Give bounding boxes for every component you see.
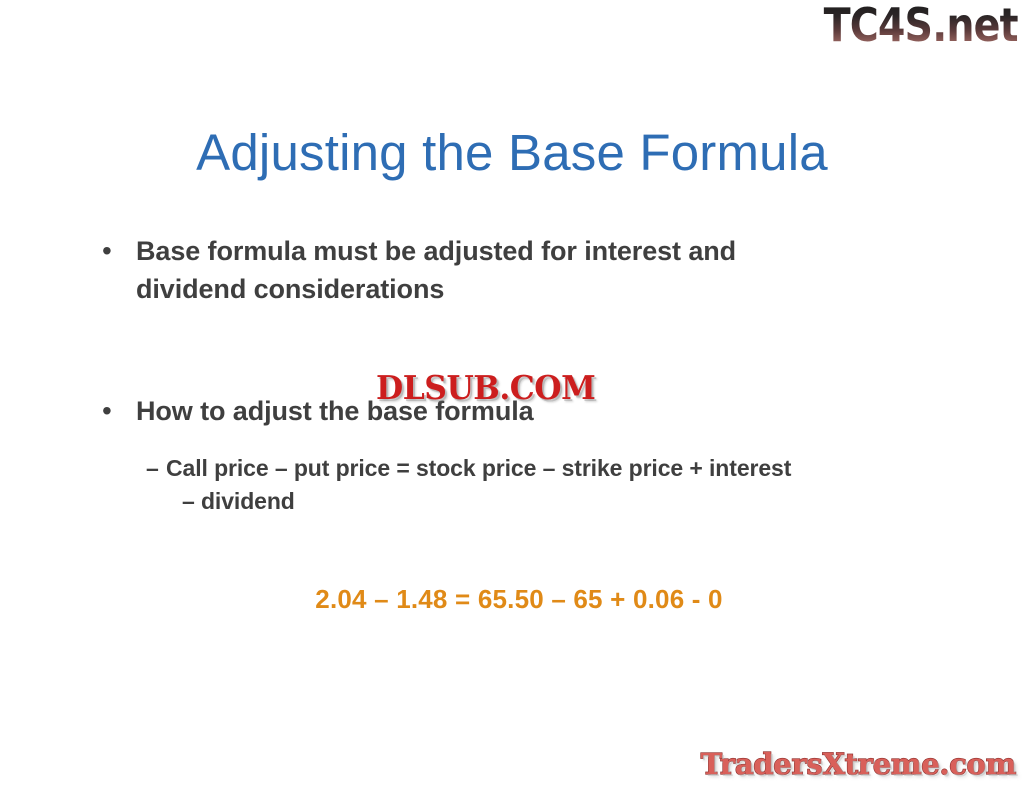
subbullet-text-line-1: Call price – put price = stock price – s… [166,455,791,481]
watermark-tc4s-net: TC4S.net [824,2,1018,48]
subbullet-text-line-2: – dividend [170,485,925,518]
slide-body: • Base formula must be adjusted for inte… [0,232,1024,615]
bullet-text-1: Base formula must be adjusted for intere… [136,232,848,308]
subbullet-item-1: – Call price – put price = stock price –… [0,452,1024,518]
subbullet-marker-icon: – [146,452,166,485]
subbullet-text-block: Call price – put price = stock price – s… [166,452,925,518]
slide-title: Adjusting the Base Formula [0,123,1024,182]
bullet-marker-icon: • [100,232,136,270]
watermark-dlsub-com-label: DLSUB.COM [376,368,595,407]
watermark-dlsub-com: DLSUB.COM [376,371,595,404]
bullet-item-1: • Base formula must be adjusted for inte… [0,232,1024,308]
bullet-marker-icon: • [100,392,136,430]
formula-example: 2.04 – 1.48 = 65.50 – 65 + 0.06 - 0 [0,584,1024,615]
watermark-tradersxtreme-com: TradersXtreme.com [701,750,1016,779]
slide-canvas: TC4S.net Adjusting the Base Formula • Ba… [0,0,1024,791]
